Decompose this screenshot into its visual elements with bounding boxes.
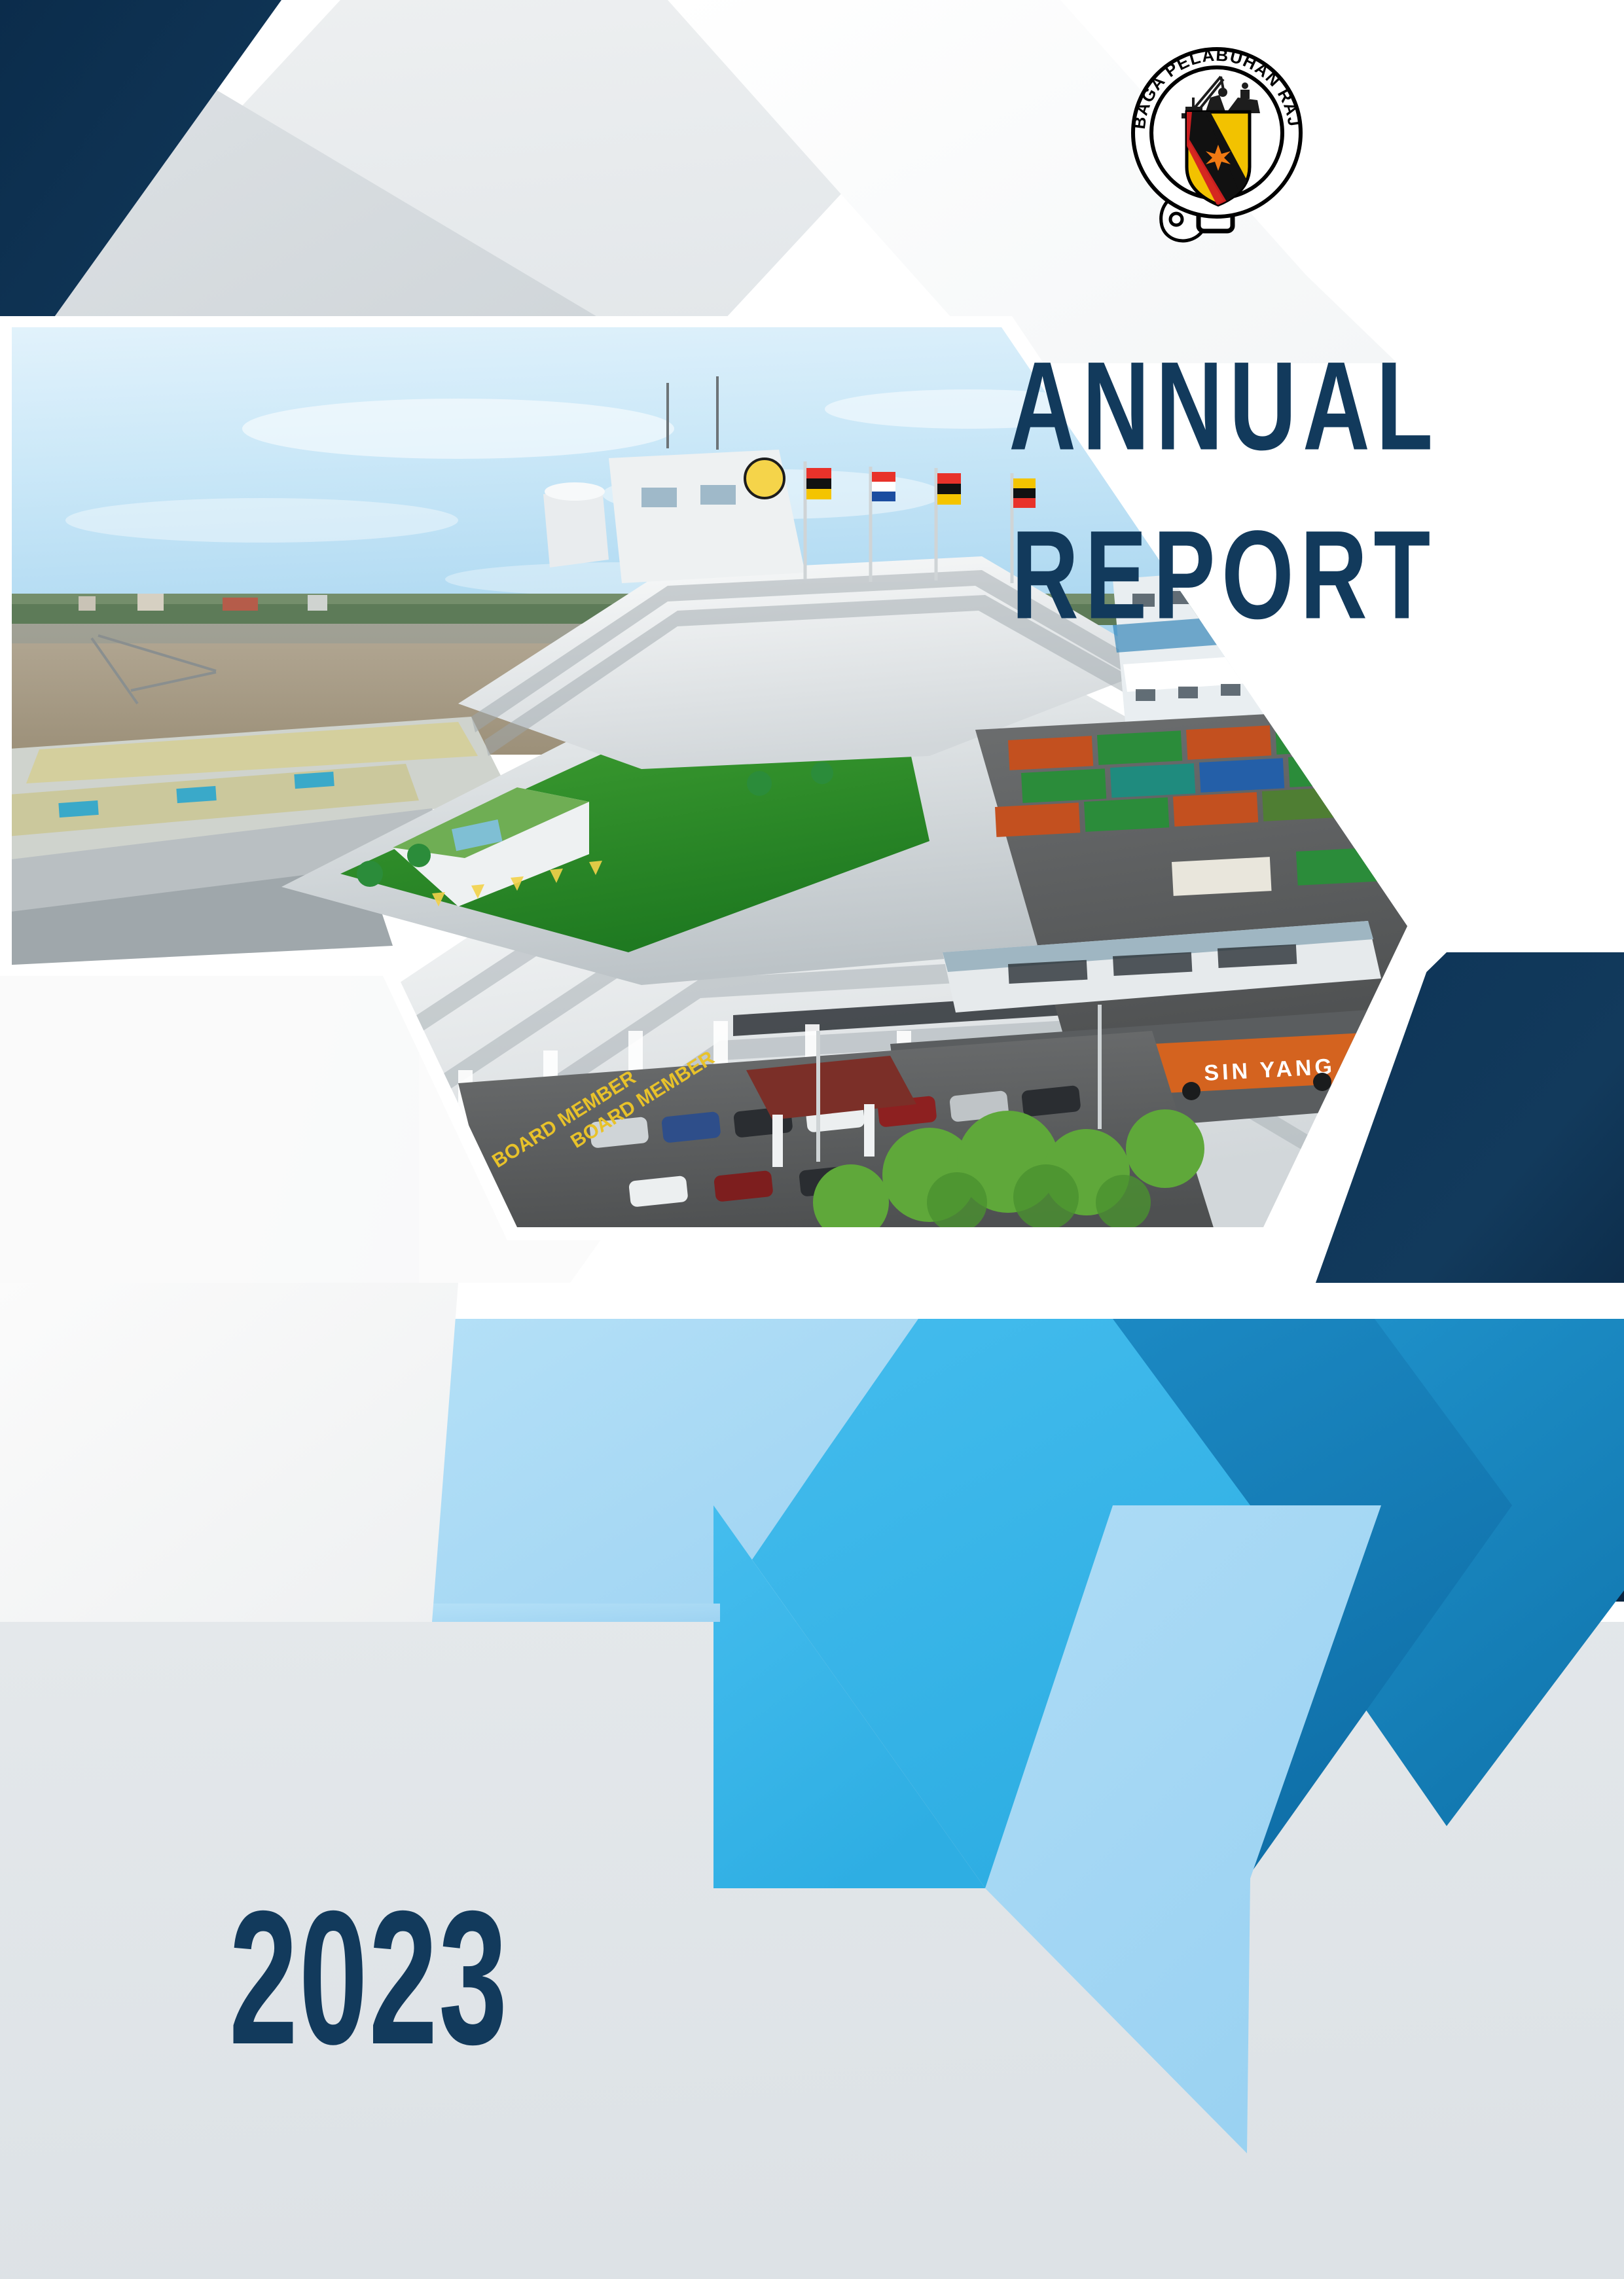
shield-icon <box>1187 112 1250 205</box>
photo-tower-emblem <box>745 459 784 498</box>
annual-report-cover-page: LEMBAGA PELABUHAN RAJANG <box>0 0 1624 2279</box>
headquarters-photo: LEMBAGA PELABUHAN RAJANG <box>0 298 1486 1325</box>
lembaga-pelabuhan-rajang-logo: LEMBAGA PELABUHAN RAJANG <box>1121 29 1312 245</box>
report-year: 2023 <box>229 1869 509 2088</box>
diamond-light-wedge-left <box>432 1604 720 1622</box>
left-white-above <box>0 1283 458 1622</box>
